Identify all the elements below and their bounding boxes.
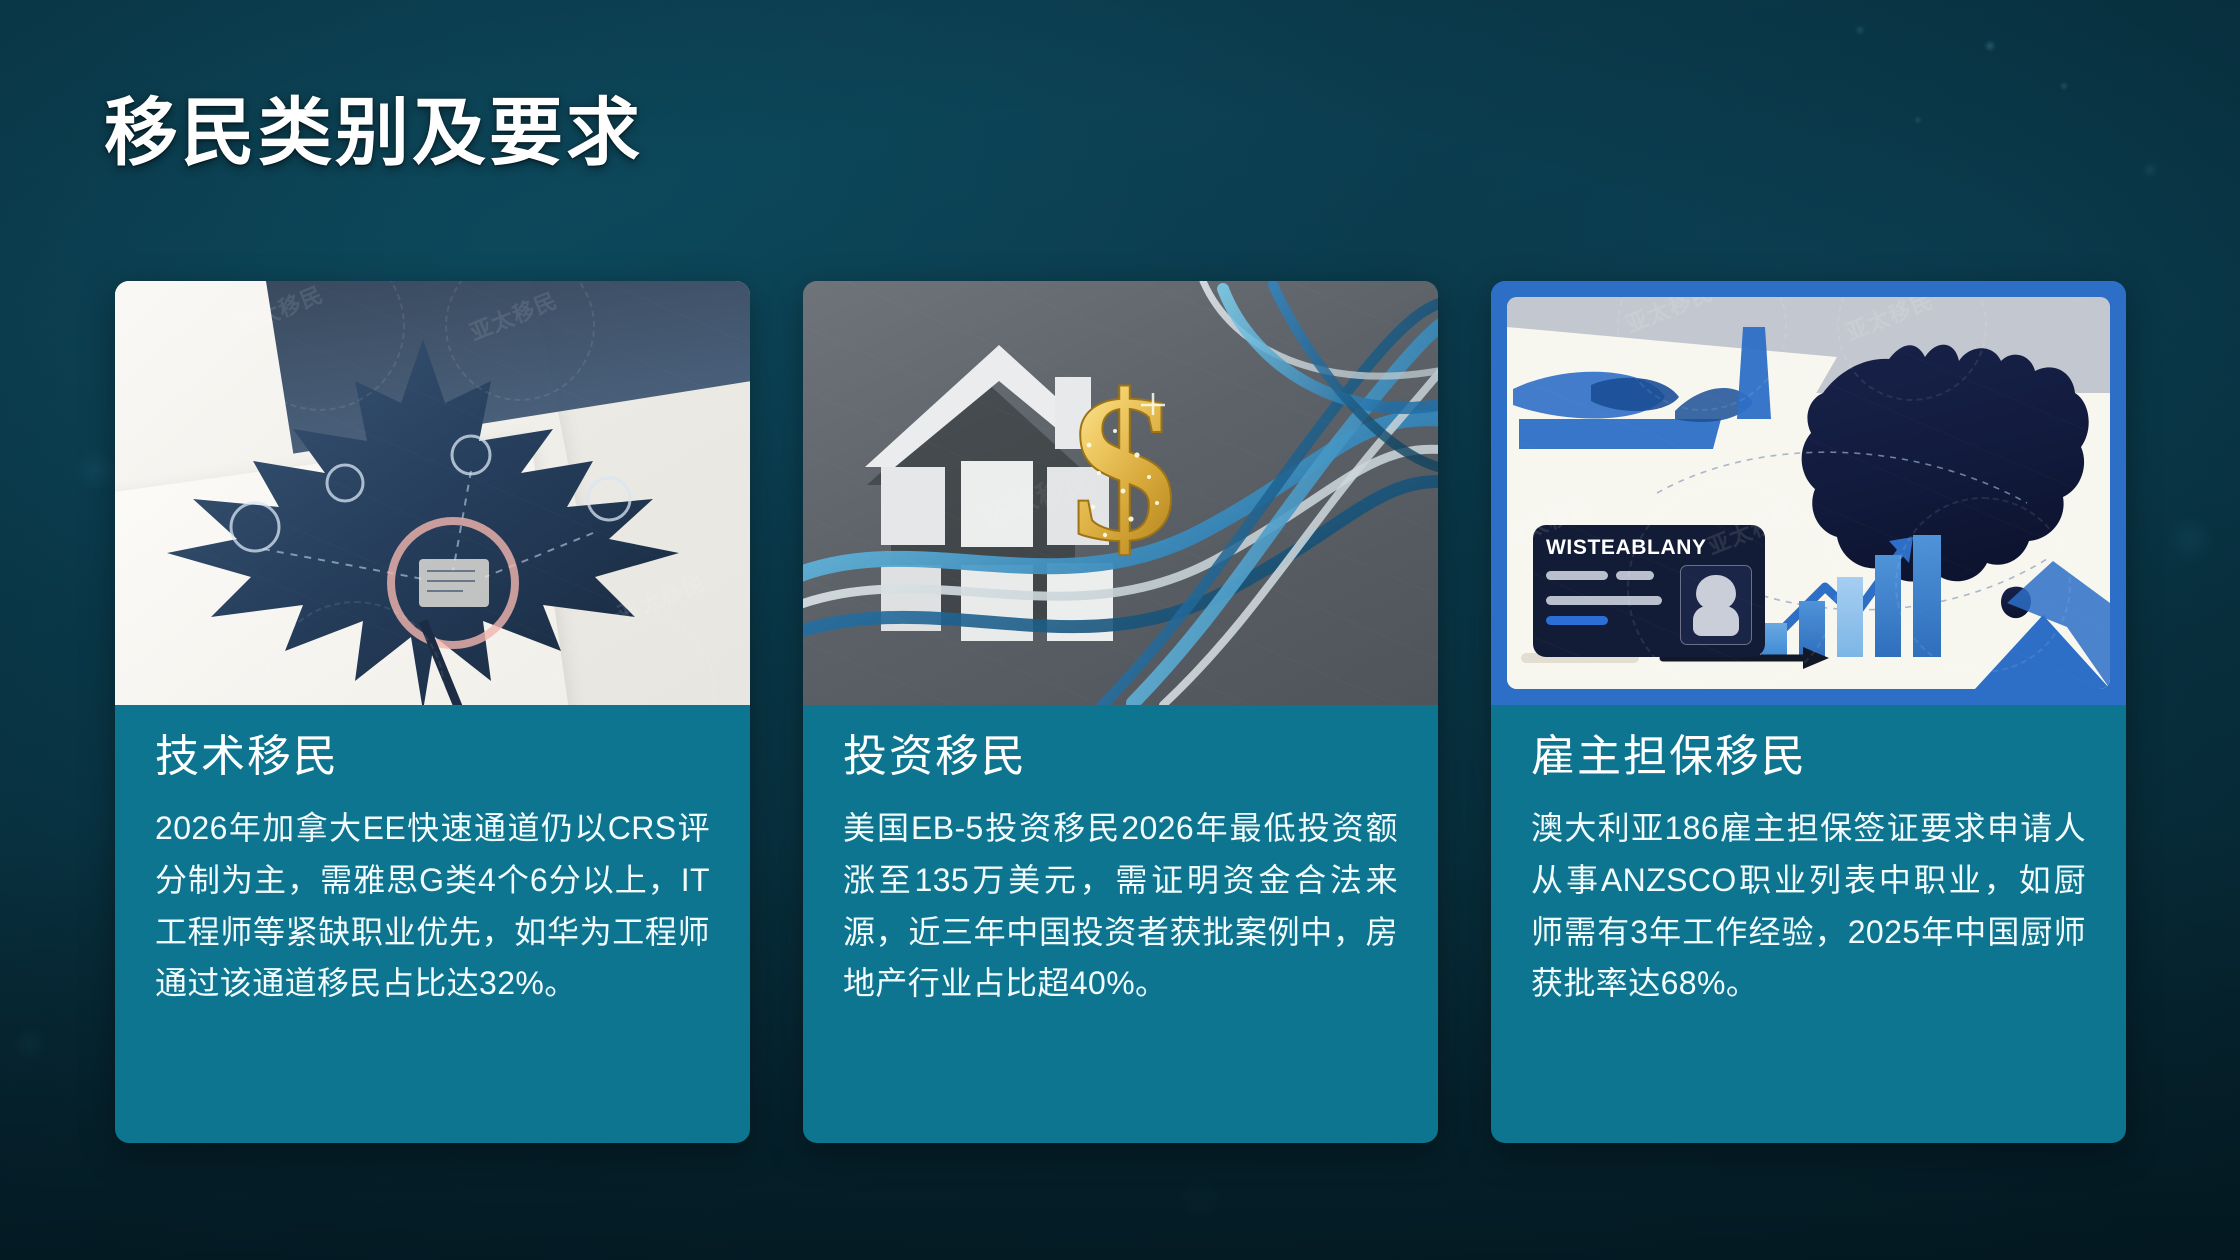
card-title-employer-sponsored-migration: 雇主担保移民 (1531, 731, 2086, 783)
svg-text:$: $ (1071, 350, 1177, 585)
card-description-employer-sponsored-migration: 澳大利亚186雇主担保签证要求申请人从事ANZSCO职业列表中职业，如厨师需有3… (1531, 803, 2086, 1010)
id-field-line (1616, 571, 1654, 580)
card-investment-migration[interactable]: $ 环球移民 (803, 281, 1438, 1143)
house-dollar-illustration-icon: $ (803, 281, 1438, 705)
id-card-name: WISTEABLANY (1546, 537, 1752, 558)
id-field-line (1546, 571, 1608, 580)
card-body-skilled-migration: 技术移民 2026年加拿大EE快速通道仍以CRS评分制为主，需雅思G类4个6分以… (115, 705, 750, 1010)
id-field-line (1546, 596, 1662, 605)
illustration-frame: WISTEABLANY 亚太移民 亚太移民 亚太移民 (1507, 297, 2110, 689)
card-description-investment-migration: 美国EB-5投资移民2026年最低投资额涨至135万美元，需证明资金合法来源，近… (843, 803, 1398, 1010)
page-title: 移民类别及要求 (104, 96, 643, 170)
id-card-photo (1680, 565, 1752, 645)
id-field-line-accent (1546, 616, 1608, 625)
canada-maple-leaf-icon (123, 321, 743, 705)
avatar-body (1693, 606, 1739, 636)
card-description-skilled-migration: 2026年加拿大EE快速通道仍以CRS评分制为主，需雅思G类4个6分以上，IT工… (155, 803, 710, 1010)
card-employer-sponsored-migration[interactable]: WISTEABLANY 亚太移民 亚太移民 亚太移民 (1491, 281, 2126, 1143)
card-body-employer-sponsored-migration: 雇主担保移民 澳大利亚186雇主担保签证要求申请人从事ANZSCO职业列表中职业… (1491, 705, 2126, 1010)
id-card: WISTEABLANY (1533, 525, 1765, 657)
card-skilled-migration[interactable]: 亚太移民 亚太移民 亚太移民 技术移民 2026年加拿大EE快速通道仍以CRS评… (115, 281, 750, 1143)
card-title-skilled-migration: 技术移民 (155, 731, 710, 783)
avatar-head (1696, 575, 1736, 609)
card-body-investment-migration: 投资移民 美国EB-5投资移民2026年最低投资额涨至135万美元，需证明资金合… (803, 705, 1438, 1010)
card-title-investment-migration: 投资移民 (843, 731, 1398, 783)
card-image-employer-sponsored-migration: WISTEABLANY 亚太移民 亚太移民 亚太移民 (1491, 281, 2126, 705)
card-image-skilled-migration: 亚太移民 亚太移民 亚太移民 (115, 281, 750, 705)
card-image-investment-migration: $ 环球移民 (803, 281, 1438, 705)
